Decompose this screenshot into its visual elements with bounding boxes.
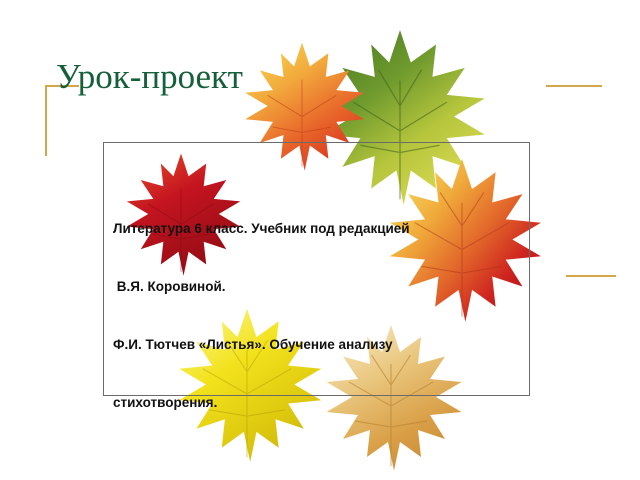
body-line-4: стихотворения. xyxy=(113,393,523,412)
paragraph-spacer xyxy=(113,452,523,471)
slide-canvas: Урок-проект Литература 6 класс. Учебник … xyxy=(0,0,640,480)
body-text-block: Литература 6 класс. Учебник под редакцие… xyxy=(113,180,523,480)
gold-rule-right xyxy=(566,275,616,277)
body-line-1: Литература 6 класс. Учебник под редакцие… xyxy=(113,219,523,238)
gold-rule-top-right xyxy=(546,85,602,87)
body-line-2: В.Я. Коровиной. xyxy=(113,277,523,296)
gold-corner-bracket-vertical xyxy=(45,85,47,156)
body-line-3: Ф.И. Тютчев «Листья». Обучение анализу xyxy=(113,335,523,354)
page-title: Урок-проект xyxy=(56,57,243,97)
